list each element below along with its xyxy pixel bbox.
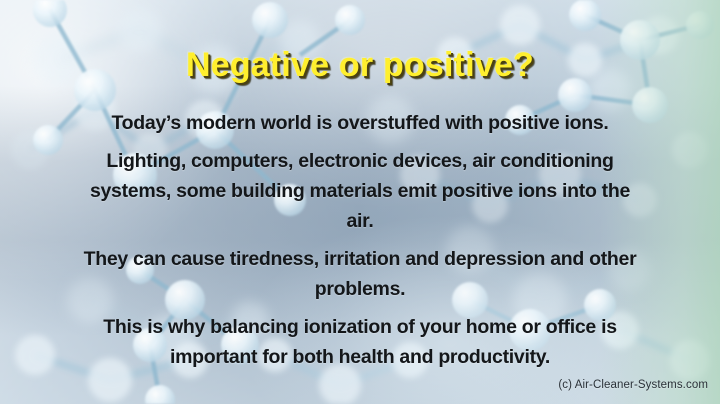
- body-paragraph-2: Lighting, computers, electronic devices,…: [78, 146, 642, 236]
- body-paragraph-4: This is why balancing ionization of your…: [78, 312, 642, 372]
- slide-title: Negative or positive?: [0, 46, 720, 85]
- body-paragraph-3: They can cause tiredness, irritation and…: [78, 244, 642, 304]
- slide-content: Negative or positive? Today’s modern wor…: [0, 0, 720, 404]
- slide-body: Today’s modern world is overstuffed with…: [78, 108, 642, 372]
- copyright-credit: (c) Air-Cleaner-Systems.com: [558, 379, 708, 391]
- body-paragraph-1: Today’s modern world is overstuffed with…: [78, 108, 642, 138]
- slide-canvas: Negative or positive? Today’s modern wor…: [0, 0, 720, 404]
